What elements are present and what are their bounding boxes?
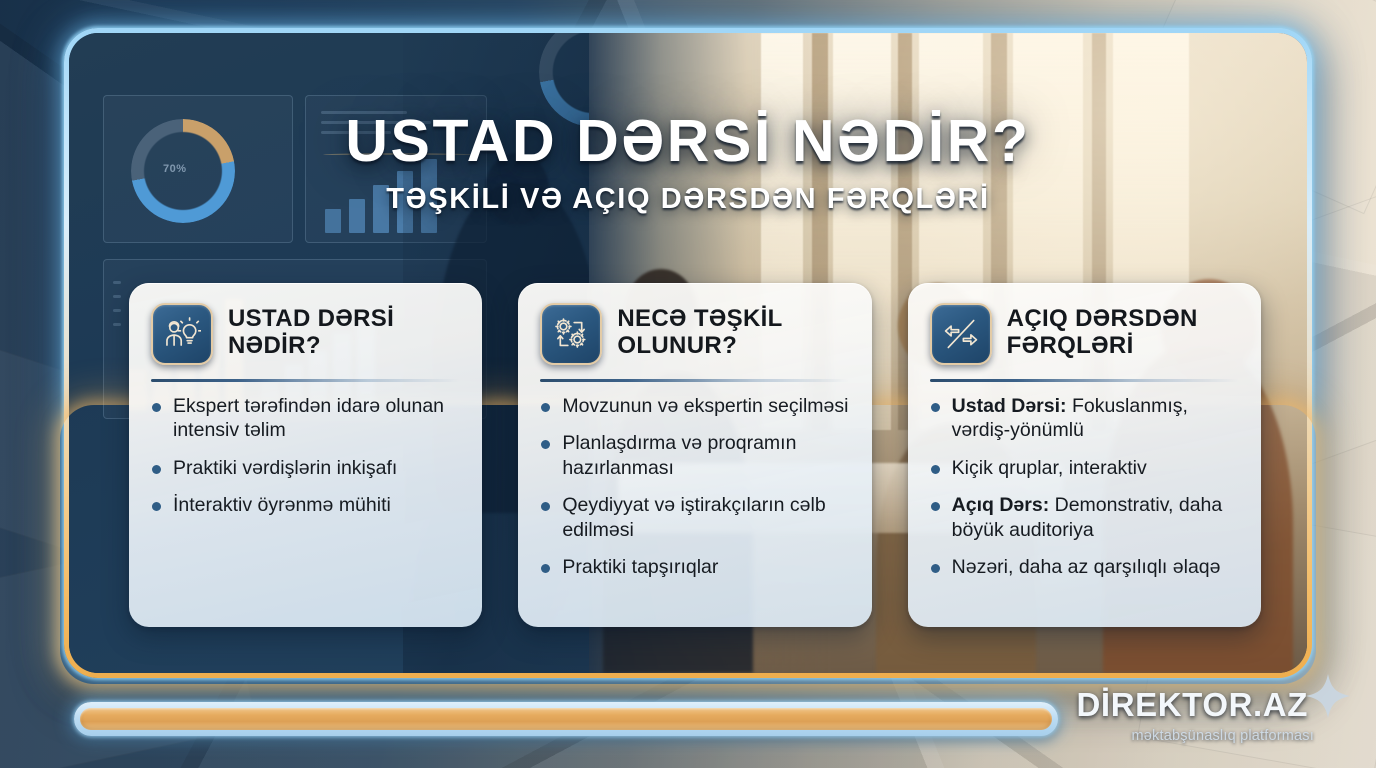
- dashboard-text-line: [113, 323, 121, 326]
- brand-logo[interactable]: DİREKTOR.AZ məktabşünaslıq platforması: [1077, 682, 1355, 744]
- bullet-text: Praktiki tapşırıqlar: [562, 556, 718, 578]
- list-item: Planlaşdırma və proqramın hazırlanması: [540, 431, 849, 480]
- dashboard-text-line: [113, 309, 121, 312]
- brand-name: DİREKTOR.AZ: [1077, 686, 1309, 724]
- list-item: Movzunun və ekspertin seçilməsi: [540, 394, 849, 419]
- neon-frame: 70%: [64, 28, 1312, 678]
- card-row: USTAD DƏRSİ NƏDİR? Ekspert tərəfindən id…: [129, 283, 1261, 627]
- list-item: Ekspert tərəfindən idarə olunan intensiv…: [151, 394, 460, 443]
- info-card-aciq-dersden-ferqleri[interactable]: AÇIQ DƏRSDƏN FƏRQLƏRİ Ustad Dərsi: Fokus…: [908, 283, 1261, 627]
- list-item: İnteraktiv öyrənmə mühiti: [151, 493, 460, 518]
- gears-cycle-icon: [540, 303, 602, 365]
- dashboard-text-line: [113, 295, 121, 298]
- brand-tagline: məktabşünaslıq platforması: [1077, 728, 1315, 744]
- bullet-text: İnteraktiv öyrənmə mühiti: [173, 494, 391, 516]
- dashboard-text-line: [113, 281, 121, 284]
- info-card-ustad-dersi[interactable]: USTAD DƏRSİ NƏDİR? Ekspert tərəfindən id…: [129, 283, 482, 627]
- info-card-nece-teskil-olunur[interactable]: NECƏ TƏŞKİL OLUNUR? Movzunun və eksperti…: [518, 283, 871, 627]
- card-title: NECƏ TƏŞKİL OLUNUR?: [617, 303, 849, 360]
- card-title: USTAD DƏRSİ NƏDİR?: [228, 303, 460, 360]
- list-item: Praktiki vərdişlərin inkişafı: [151, 456, 460, 481]
- card-bullet-list: Movzunun və ekspertin seçilməsi Planlaşd…: [540, 394, 849, 580]
- bullet-text: Qeydiyyat və iştirakçıların cəlb edilməs…: [562, 494, 825, 541]
- card-title: AÇIQ DƏRSDƏN FƏRQLƏRİ: [1007, 303, 1239, 360]
- card-divider: [151, 379, 460, 382]
- bullet-lead: Açıq Dərs:: [952, 494, 1050, 516]
- compare-arrows-icon: [930, 303, 992, 365]
- card-bullet-list: Ekspert tərəfindən idarə olunan intensiv…: [151, 394, 460, 518]
- list-item: Nəzəri, daha az qarşılıqlı əlaqə: [930, 555, 1239, 580]
- bullet-text: Praktiki vərdişlərin inkişafı: [173, 457, 397, 479]
- bullet-lead: Ustad Dərsi:: [952, 395, 1067, 417]
- infographic-stage: 70%: [0, 0, 1376, 768]
- card-divider: [930, 379, 1239, 382]
- bullet-text: Movzunun və ekspertin seçilməsi: [562, 395, 848, 417]
- list-item: Açıq Dərs: Demonstrativ, daha böyük audi…: [930, 493, 1239, 542]
- bullet-text: Planlaşdırma və proqramın hazırlanması: [562, 432, 796, 479]
- headline-block: USTAD DƏRSİ NƏDİR? TƏŞKİLİ VƏ AÇIQ DƏRSD…: [69, 111, 1307, 216]
- progress-bar-fill: [80, 708, 1052, 730]
- person-lightbulb-icon: [151, 303, 213, 365]
- page-subtitle: TƏŞKİLİ VƏ AÇIQ DƏRSDƏN FƏRQLƏRİ: [69, 183, 1307, 216]
- sparkle-icon: [1302, 670, 1354, 727]
- page-title: USTAD DƏRSİ NƏDİR?: [69, 111, 1307, 172]
- brand-name-row: DİREKTOR.AZ: [1077, 682, 1355, 727]
- progress-bar[interactable]: [74, 702, 1058, 736]
- bullet-text: Nəzəri, daha az qarşılıqlı əlaqə: [952, 556, 1221, 578]
- card-bullet-list: Ustad Dərsi: Fokuslanmış, vərdiş-yönümlü…: [930, 394, 1239, 580]
- bullet-text: Kiçik qruplar, interaktiv: [952, 457, 1147, 479]
- content-canvas: 70%: [69, 33, 1307, 673]
- list-item: Qeydiyyat və iştirakçıların cəlb edilməs…: [540, 493, 849, 542]
- card-header: AÇIQ DƏRSDƏN FƏRQLƏRİ: [930, 303, 1239, 365]
- bullet-text: Ekspert tərəfindən idarə olunan intensiv…: [173, 395, 444, 442]
- card-header: USTAD DƏRSİ NƏDİR?: [151, 303, 460, 365]
- list-item: Kiçik qruplar, interaktiv: [930, 456, 1239, 481]
- card-divider: [540, 379, 849, 382]
- card-header: NECƏ TƏŞKİL OLUNUR?: [540, 303, 849, 365]
- list-item: Ustad Dərsi: Fokuslanmış, vərdiş-yönümlü: [930, 394, 1239, 443]
- list-item: Praktiki tapşırıqlar: [540, 555, 849, 580]
